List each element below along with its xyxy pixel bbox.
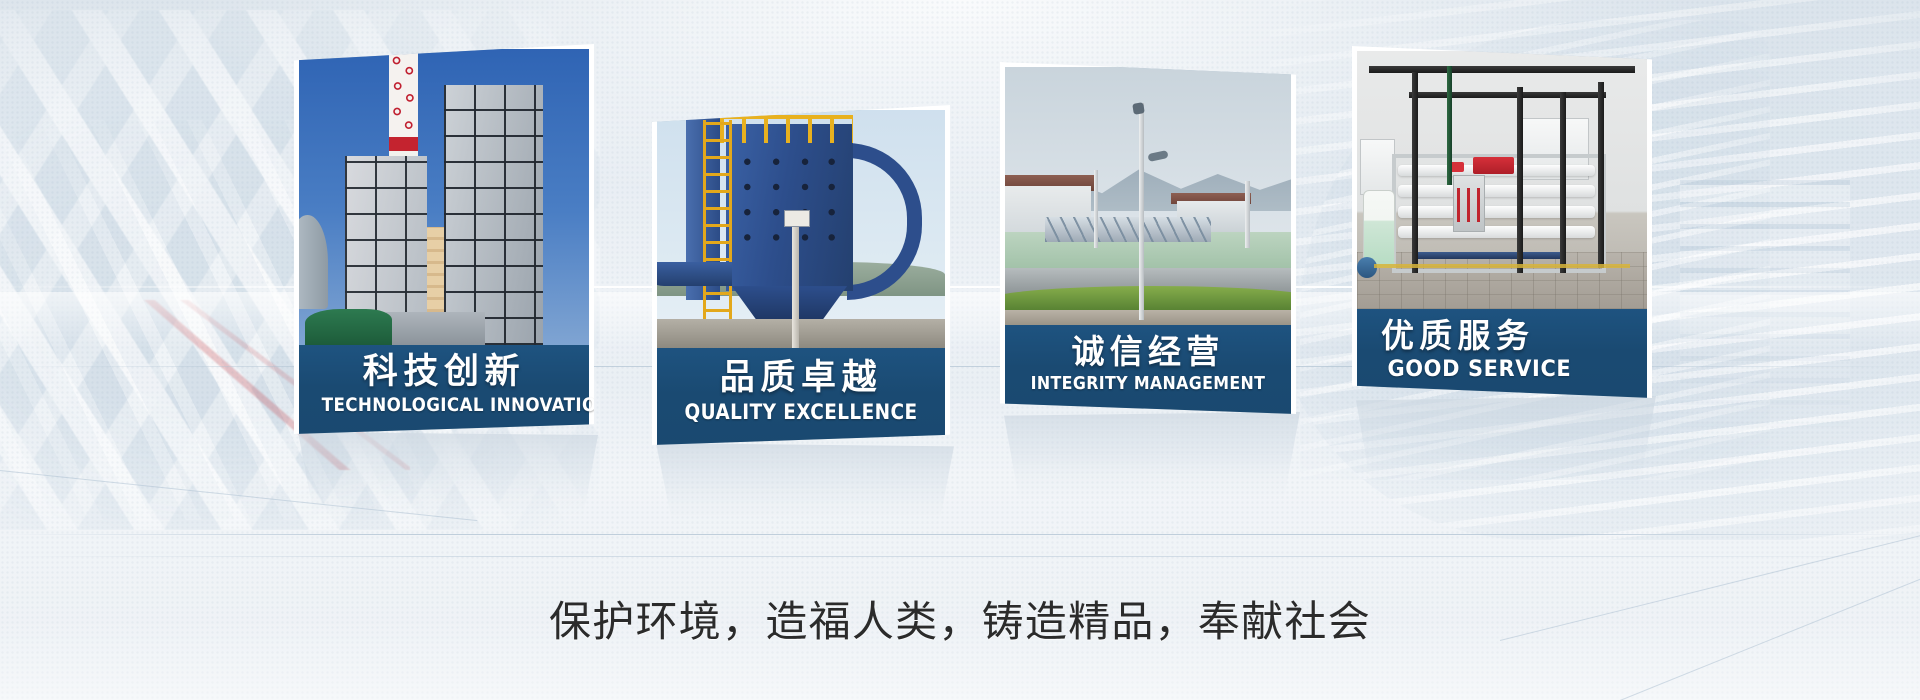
banner-stage: 科技创新 TECHNOLOGICAL INNOVATION <box>0 0 1920 700</box>
card-title-cn-1: 科技创新 <box>305 354 583 391</box>
banner-tagline: 保护环境，造福人类，铸造精品，奉献社会 <box>0 588 1920 649</box>
card-photo-ro-water-system <box>1357 51 1647 309</box>
card-label-bar-1: 科技创新 TECHNOLOGICAL INNOVATION <box>299 345 589 434</box>
value-card-technological-innovation[interactable]: 科技创新 TECHNOLOGICAL INNOVATION <box>294 44 594 434</box>
card-title-cn-4: 优质服务 <box>1381 319 1641 354</box>
value-card-quality-excellence[interactable]: 品质卓越 QUALITY EXCELLENCE <box>652 105 950 445</box>
value-card-good-service[interactable]: 优质服务 GOOD SERVICE <box>1352 46 1652 398</box>
card-photo-dust-collector <box>657 110 945 348</box>
card-label-bar-3: 诚信经营 INTEGRITY MANAGEMENT <box>1005 325 1291 414</box>
card-title-en-4: GOOD SERVICE <box>1388 357 1635 383</box>
card-title-cn-2: 品质卓越 <box>663 360 939 397</box>
card-title-en-3: INTEGRITY MANAGEMENT <box>1027 373 1268 395</box>
card-title-en-1: TECHNOLOGICAL INNOVATION <box>322 394 567 417</box>
card-photo-desulfurization-plant <box>299 49 589 345</box>
card-title-cn-3: 诚信经营 <box>1011 335 1285 370</box>
value-card-integrity-management[interactable]: 诚信经营 INTEGRITY MANAGEMENT <box>1000 62 1296 414</box>
card-photo-wastewater-plant <box>1005 67 1291 325</box>
card-label-bar-4: 优质服务 GOOD SERVICE <box>1357 309 1647 398</box>
card-title-en-2: QUALITY EXCELLENCE <box>680 400 923 425</box>
card-label-bar-2: 品质卓越 QUALITY EXCELLENCE <box>657 348 945 445</box>
